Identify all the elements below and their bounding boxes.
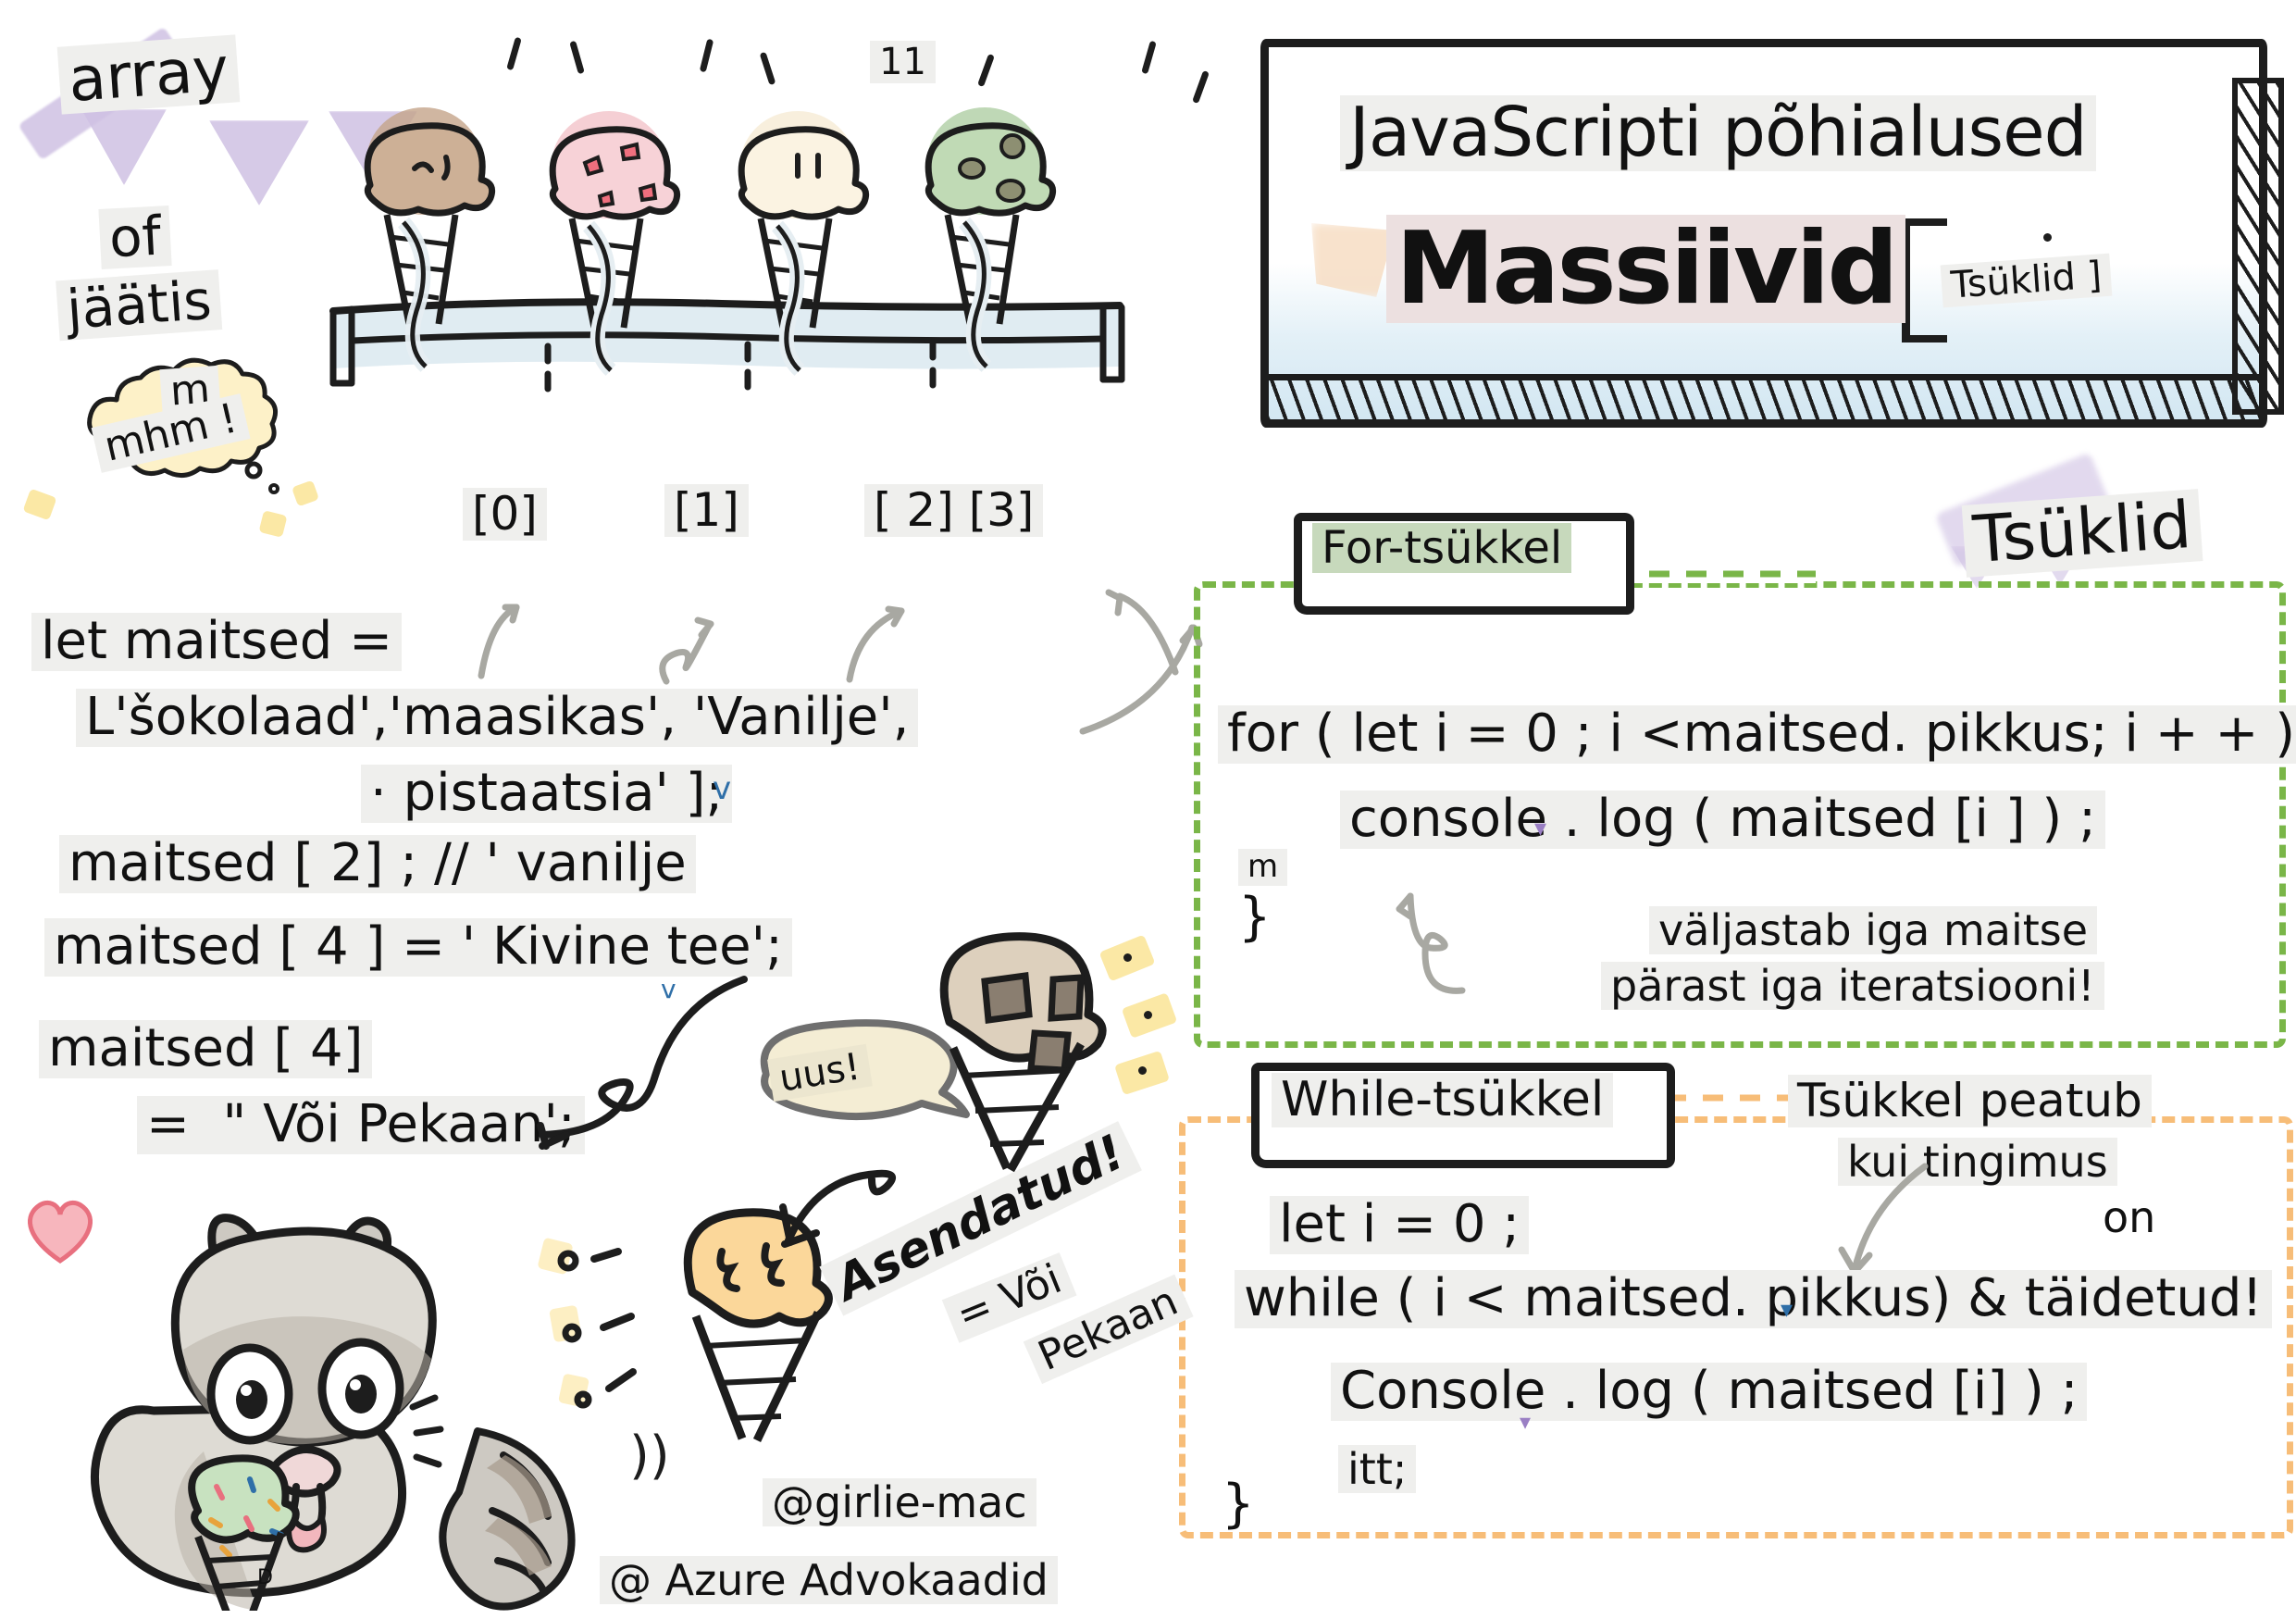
notebook-spine-icon — [2232, 78, 2284, 415]
while-loop-line-1: let i = 0 ; — [1270, 1194, 1529, 1254]
code-line-declaration: let maitsed = — [31, 611, 402, 671]
for-loop-note-line-2: pärast iga iteratsiooni! — [1601, 961, 2104, 1011]
while-loop-note-line-1: Tsükkel peatub — [1788, 1074, 2152, 1127]
dot-decoration: ▾ — [1520, 1409, 1531, 1435]
page-title-text: JavaScripti põhialused — [1340, 95, 2096, 171]
bunting-flag-icon — [81, 109, 167, 185]
tick-marks-decoration: )) — [629, 1426, 670, 1486]
code-line-reassign-index: maitsed [ 4] — [39, 1018, 372, 1078]
while-loop-closing-brace: } — [1222, 1474, 1255, 1534]
page-subtitle-text: Massiivid — [1386, 215, 1905, 323]
label-confetti-count: 11 — [870, 41, 936, 83]
curve-arrow-to-cone — [500, 953, 759, 1157]
for-loop-note-arrow — [1388, 889, 1518, 1000]
open-bracket-icon — [1902, 218, 1947, 342]
dot-decoration — [1123, 953, 1132, 962]
artist-signature: D — [257, 1566, 273, 1589]
for-loop-closing-m: m — [1238, 848, 1287, 886]
loops-section-heading: Tsüklid — [1961, 486, 2203, 579]
for-loop-line-1: for ( let i = 0 ; i <maitsed. pikkus; i … — [1218, 704, 2296, 764]
label-array: array — [57, 32, 241, 116]
confetti-icon — [22, 489, 56, 521]
confetti-icon — [258, 510, 287, 538]
while-loop-tab-label: While-tsükkel — [1272, 1072, 1613, 1127]
bunting-flag-icon — [209, 120, 309, 205]
sparkle-icons — [552, 1231, 690, 1444]
while-loop-line-4: itt; — [1338, 1444, 1416, 1494]
page-title: JavaScripti põhialused — [1340, 93, 2096, 172]
for-loop-closing-brace: } — [1238, 887, 1272, 947]
peach-wash-decoration — [1311, 223, 1395, 297]
array-illustration — [315, 56, 1129, 426]
dot-decoration — [1144, 1011, 1152, 1019]
code-line-values-continued: · pistaatsia' ]; — [361, 763, 732, 823]
dot-decoration: ▾ — [1781, 1296, 1793, 1324]
for-loop-line-2: console . log ( maitsed [i ] ) ; — [1340, 789, 2105, 849]
while-loop-note-line-3: on — [2103, 1192, 2155, 1242]
confetti-icon — [1192, 70, 1210, 104]
code-line-values: L'šokolaad','maasikas', 'Vanilje', — [76, 687, 918, 747]
dot-decoration: ▾ — [1534, 815, 1546, 842]
checkmark-icon: v — [713, 770, 731, 807]
dot-decoration — [2043, 233, 2052, 242]
page-subtitle: Massiivid — [1386, 211, 1905, 327]
for-loop-tab-label: For-tsükkel — [1312, 522, 1571, 574]
code-line-access: maitsed [ 2] ; // ' vanilje — [59, 833, 696, 893]
confetti-icon — [1141, 41, 1157, 75]
dot-decoration — [1138, 1066, 1147, 1075]
credit-handle: @girlie-mac — [763, 1477, 1036, 1527]
while-loop-line-2: while ( i < maitsed. pikkus) & täidetud! — [1235, 1268, 2272, 1328]
label-of: of — [98, 204, 171, 270]
for-loop-note-line-1: väljastab iga maitse — [1649, 905, 2097, 955]
credit-organisation: @ Azure Advokaadid — [600, 1555, 1058, 1605]
while-loop-line-3: Console . log ( maitsed [i] ) ; — [1331, 1361, 2087, 1421]
